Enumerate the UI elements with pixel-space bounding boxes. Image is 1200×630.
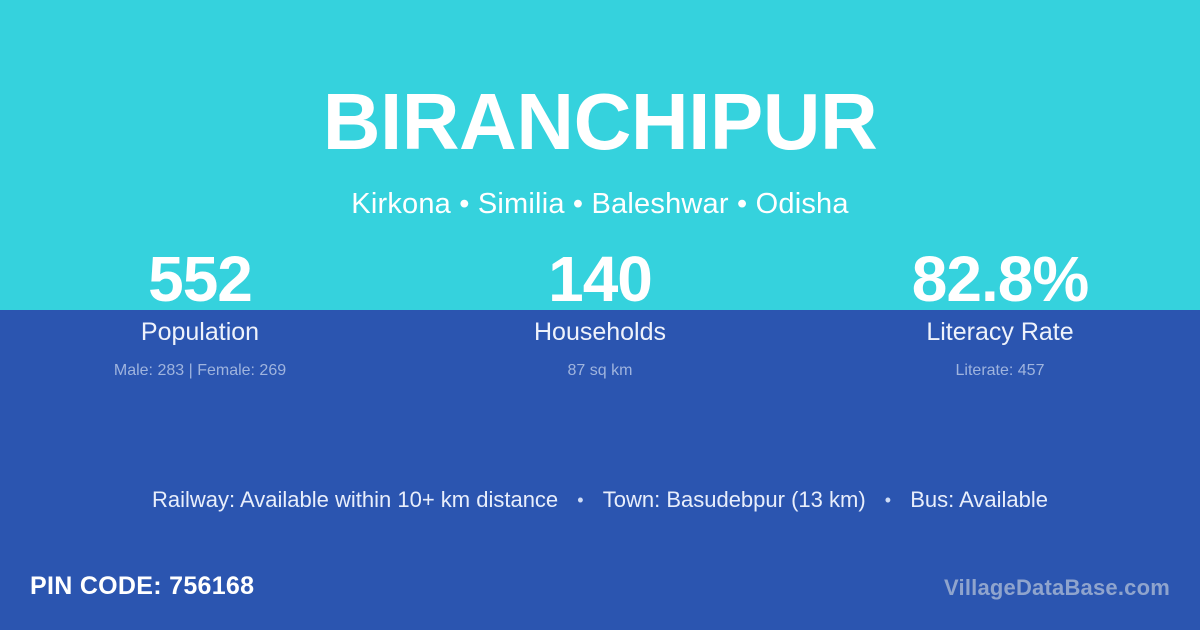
- pin-code: PIN CODE: 756168: [30, 571, 254, 601]
- stat-label-population: Population: [0, 312, 400, 346]
- infrastructure-row: Railway: Available within 10+ km distanc…: [0, 484, 1200, 515]
- stat-label-literacy-rate: Literacy Rate: [800, 312, 1200, 346]
- stat-value-population: 552: [0, 246, 400, 312]
- stat-sub-households: 87 sq km: [400, 346, 800, 381]
- stat-population: 552 Population Male: 283 | Female: 269: [0, 246, 400, 381]
- stat-literacy-rate: 82.8% Literacy Rate Literate: 457: [800, 246, 1200, 381]
- breadcrumb: Kirkona • Similia • Baleshwar • Odisha: [0, 162, 1200, 219]
- card-header: BIRANCHIPUR Kirkona • Similia • Baleshwa…: [0, 0, 1200, 219]
- infrastructure-town: Town: Basudebpur (13 km): [603, 485, 866, 515]
- stat-label-households: Households: [400, 312, 800, 346]
- card-footer: PIN CODE: 756168 VillageDataBase.com: [0, 558, 1200, 630]
- bullet-separator-icon: •: [872, 485, 904, 515]
- page-title: BIRANCHIPUR: [0, 0, 1200, 162]
- stat-value-households: 140: [400, 246, 800, 312]
- infrastructure-railway: Railway: Available within 10+ km distanc…: [152, 485, 558, 515]
- stat-households: 140 Households 87 sq km: [400, 246, 800, 381]
- brand-watermark: VillageDataBase.com: [944, 574, 1170, 602]
- stat-value-literacy-rate: 82.8%: [800, 246, 1200, 312]
- stat-sub-literacy-rate: Literate: 457: [800, 346, 1200, 381]
- village-info-card: BIRANCHIPUR Kirkona • Similia • Baleshwa…: [0, 0, 1200, 630]
- bullet-separator-icon: •: [564, 485, 596, 515]
- stats-row: 552 Population Male: 283 | Female: 269 1…: [0, 246, 1200, 381]
- stat-sub-population: Male: 283 | Female: 269: [0, 346, 400, 381]
- infrastructure-bus: Bus: Available: [910, 485, 1048, 515]
